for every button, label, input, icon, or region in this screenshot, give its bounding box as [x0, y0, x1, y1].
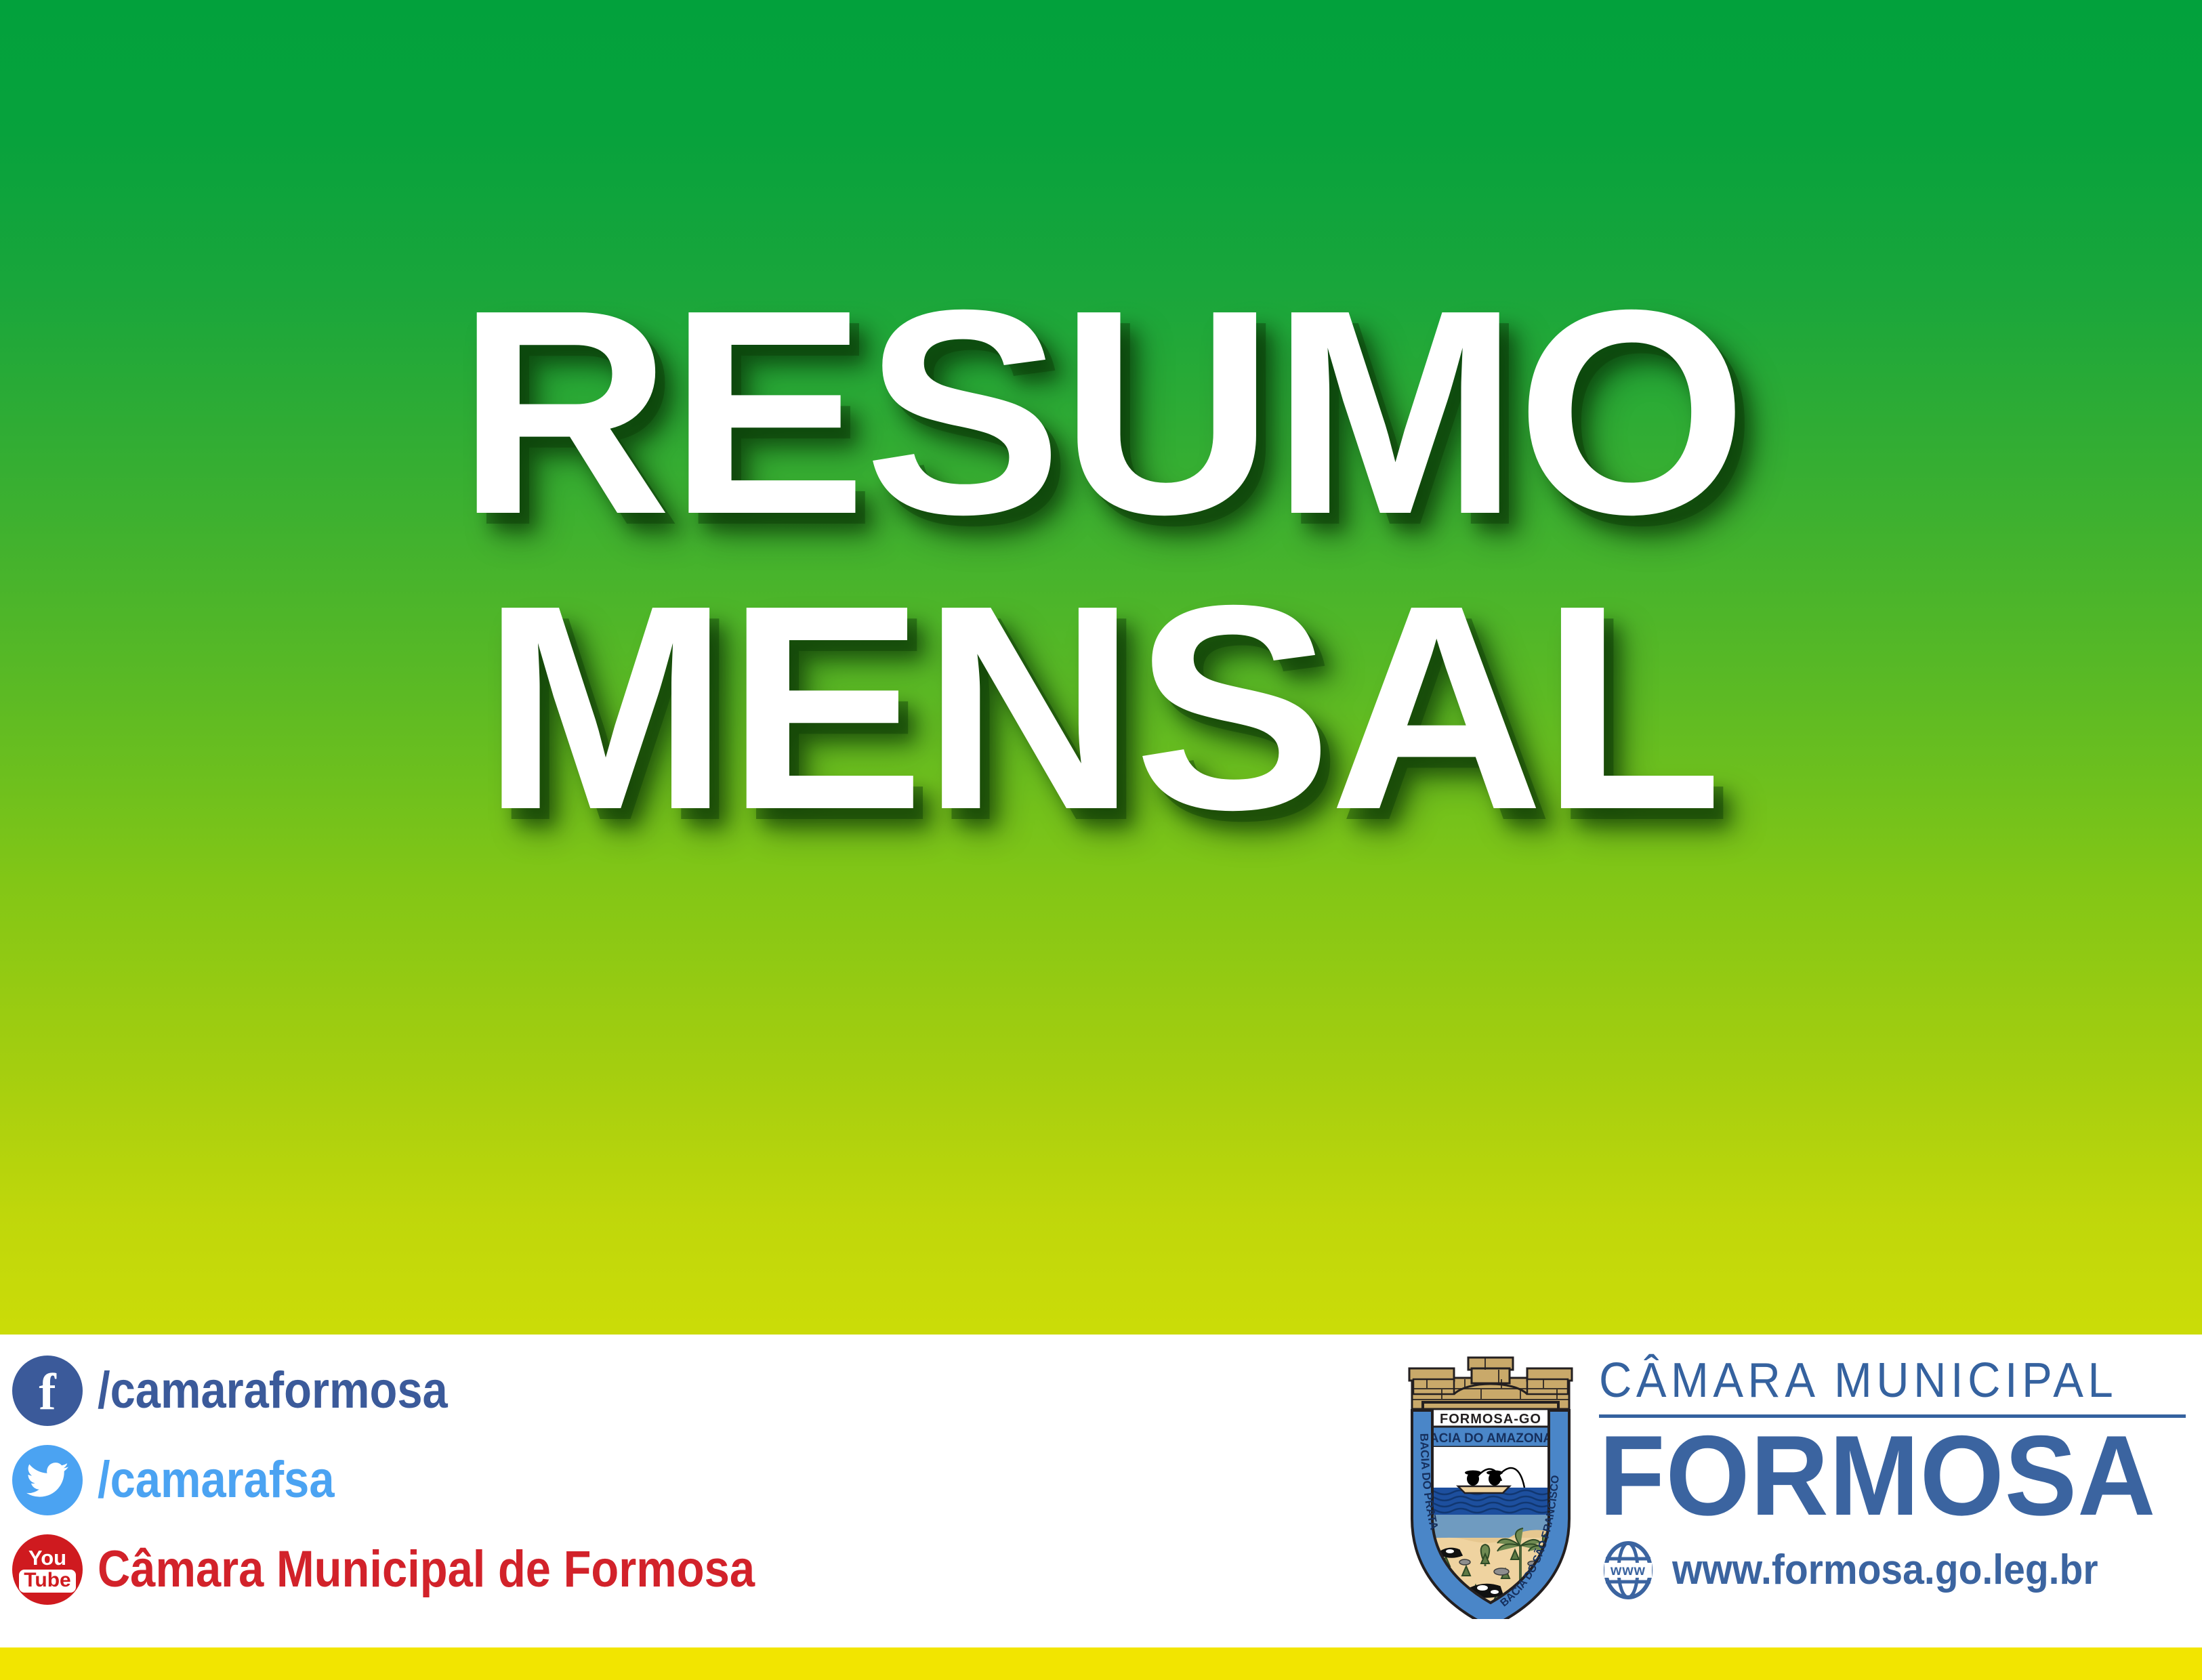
- social-row-twitter[interactable]: /camarafsa: [12, 1443, 844, 1517]
- facebook-icon[interactable]: f: [12, 1356, 83, 1426]
- svg-text:FORMOSA-GO: FORMOSA-GO: [1440, 1412, 1541, 1427]
- website-row[interactable]: www www.formosa.go.leg.br: [1599, 1541, 2186, 1599]
- website-url-label[interactable]: www.formosa.go.leg.br: [1672, 1546, 2098, 1594]
- youtube-wordmark: You Tube: [19, 1547, 75, 1593]
- svg-text:www: www: [1610, 1563, 1646, 1578]
- hero-title-line-2: MENSAL: [482, 573, 1720, 844]
- brand-text-block: CÂMARA MUNICIPAL FORMOSA www www.formosa…: [1599, 1345, 2186, 1599]
- bottom-yellow-strip: [0, 1647, 2202, 1680]
- facebook-handle-label[interactable]: /camaraformosa: [98, 1365, 448, 1416]
- twitter-handle-label[interactable]: /camarafsa: [98, 1454, 335, 1506]
- twitter-icon[interactable]: [12, 1445, 83, 1515]
- youtube-channel-label[interactable]: Câmara Municipal de Formosa: [98, 1544, 755, 1595]
- globe-www-icon: www: [1599, 1541, 1657, 1599]
- youtube-you-text: You: [28, 1547, 66, 1568]
- social-row-youtube[interactable]: You Tube Câmara Municipal de Formosa: [12, 1532, 844, 1607]
- youtube-tube-text: Tube: [19, 1570, 75, 1593]
- svg-text:BACIA DO AMAZONAS: BACIA DO AMAZONAS: [1421, 1431, 1562, 1446]
- poster-canvas: RESUMO MENSAL f /camaraformosa /camarafs…: [0, 0, 2202, 1680]
- hero-title-block: RESUMO MENSAL: [0, 0, 2202, 1335]
- hero-title-line-1: RESUMO: [457, 278, 1745, 549]
- brand-title: FORMOSA: [1599, 1422, 2156, 1530]
- brand-logo-block: FORMOSA-GO BACIA DO AMAZONAS: [1400, 1345, 2186, 1619]
- social-links-list: f /camaraformosa /camarafsa You Tube Câm…: [12, 1353, 844, 1607]
- facebook-f-glyph: f: [39, 1366, 56, 1418]
- social-row-facebook[interactable]: f /camaraformosa: [12, 1353, 844, 1428]
- brand-subtitle: CÂMARA MUNICIPAL: [1599, 1356, 2144, 1405]
- coat-of-arms-icon: FORMOSA-GO BACIA DO AMAZONAS: [1400, 1348, 1581, 1619]
- shield-nameplate: FORMOSA-GO: [1420, 1409, 1561, 1427]
- shield-band-top: BACIA DO AMAZONAS: [1420, 1427, 1561, 1447]
- youtube-icon[interactable]: You Tube: [12, 1534, 83, 1605]
